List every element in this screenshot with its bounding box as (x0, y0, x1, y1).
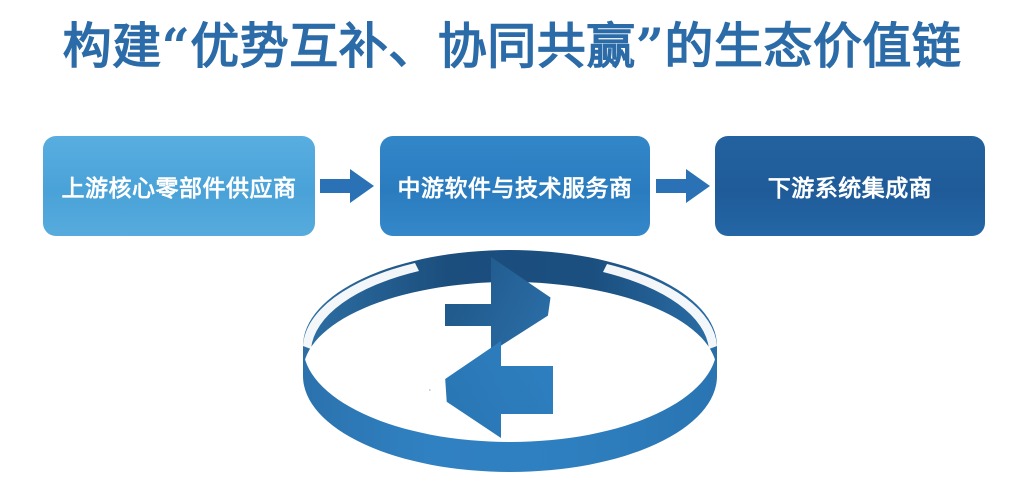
slide-canvas: 构建“优势互补、协同共赢”的生态价值链 上游核心零部件供应商 中游软件与技术服务… (0, 0, 1024, 480)
chain-box-midstream[interactable]: 中游软件与技术服务商 (380, 136, 650, 236)
title-area: 构建“优势互补、协同共赢”的生态价值链 (0, 0, 1024, 92)
value-chain-row: 上游核心零部件供应商 中游软件与技术服务商 下游系统集成商 (0, 136, 1024, 236)
chain-box-downstream-label: 下游系统集成商 (768, 169, 933, 203)
chain-box-upstream-label: 上游核心零部件供应商 (62, 169, 297, 203)
arrow-right-icon (656, 168, 710, 204)
chain-box-downstream[interactable]: 下游系统集成商 (715, 136, 985, 236)
arrow-right-icon (320, 168, 374, 204)
chain-box-upstream[interactable]: 上游核心零部件供应商 (43, 136, 315, 236)
circular-cycle-arrows-icon (295, 248, 725, 480)
page-title: 构建“优势互补、协同共赢”的生态价值链 (63, 22, 962, 71)
chain-box-midstream-label: 中游软件与技术服务商 (398, 169, 633, 203)
